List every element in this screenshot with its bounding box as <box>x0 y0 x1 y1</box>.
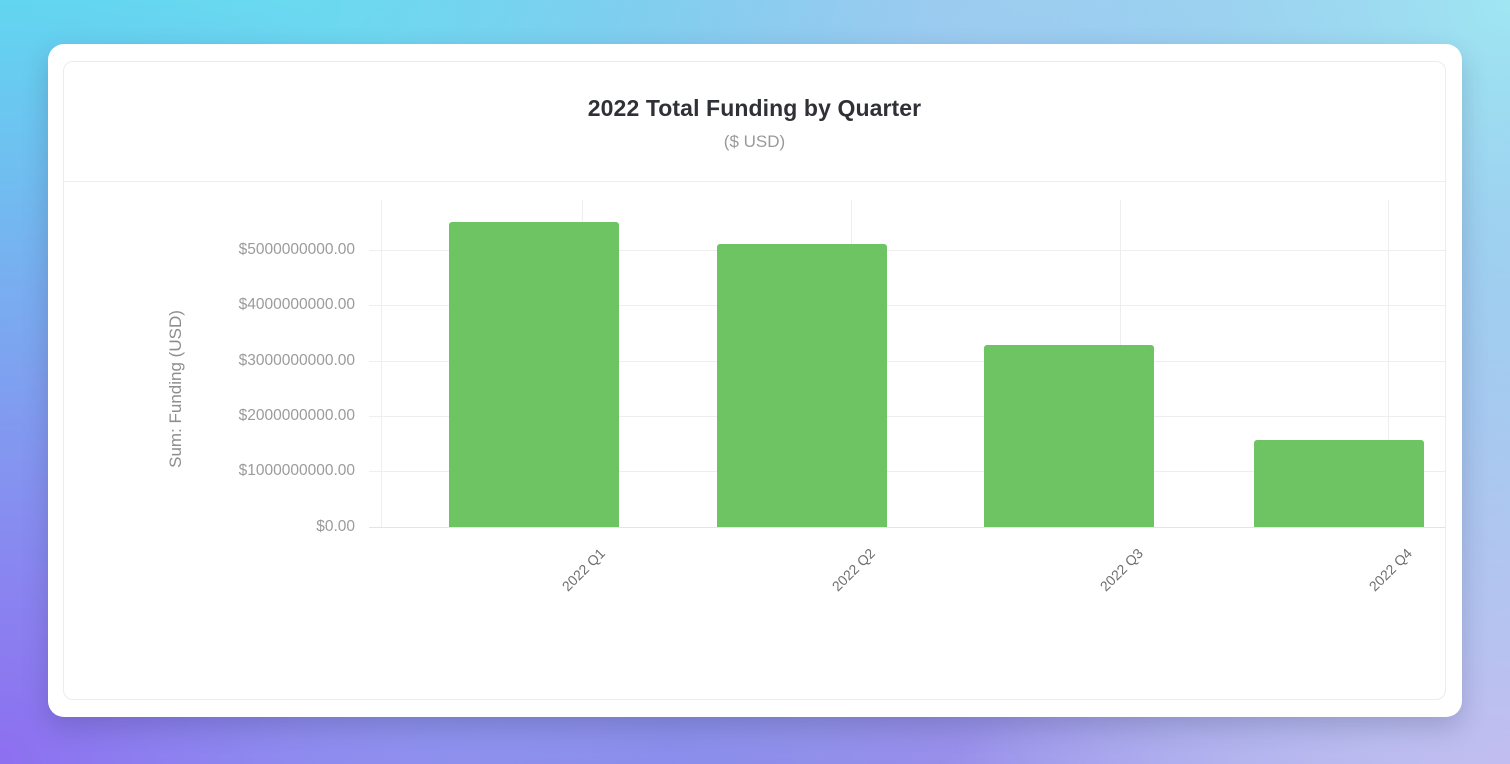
chart-card: 2022 Total Funding by Quarter ($ USD) Su… <box>48 44 1462 717</box>
y-axis-title: Sum: Funding (USD) <box>164 250 188 527</box>
bar-2022-q2[interactable] <box>717 244 887 527</box>
y-tick-label-1b: $1000000000.00 <box>239 462 367 480</box>
gridline-y-0 <box>369 527 1446 528</box>
bar-2022-q4[interactable] <box>1254 440 1424 527</box>
gridline-x-0 <box>381 200 382 527</box>
y-tick-label-3b: $3000000000.00 <box>239 352 367 370</box>
bar-2022-q1[interactable] <box>449 222 619 527</box>
chart-panel: 2022 Total Funding by Quarter ($ USD) Su… <box>63 61 1446 700</box>
x-tick-label-2022-q2: 2022 Q2 <box>829 545 878 594</box>
page-title: 2022 Total Funding by Quarter <box>64 95 1445 122</box>
x-tick-label-2022-q3: 2022 Q3 <box>1097 545 1146 594</box>
chart-subtitle: ($ USD) <box>64 132 1445 152</box>
y-axis-title-label: Sum: Funding (USD) <box>166 310 186 468</box>
y-tick-label-0: $0.00 <box>316 518 367 536</box>
plot-region: Sum: Funding (USD) $5000000000.00 $40000… <box>64 182 1445 699</box>
y-tick-label-2b: $2000000000.00 <box>239 407 367 425</box>
x-tick-label-2022-q4: 2022 Q4 <box>1366 545 1415 594</box>
bar-2022-q3[interactable] <box>984 345 1154 527</box>
plot-area: $5000000000.00 $4000000000.00 $300000000… <box>381 250 1446 527</box>
chart-header: 2022 Total Funding by Quarter ($ USD) <box>64 62 1445 182</box>
y-tick-label-4b: $4000000000.00 <box>239 296 367 314</box>
x-tick-label-2022-q1: 2022 Q1 <box>559 545 608 594</box>
y-tick-label-5b: $5000000000.00 <box>239 241 367 259</box>
